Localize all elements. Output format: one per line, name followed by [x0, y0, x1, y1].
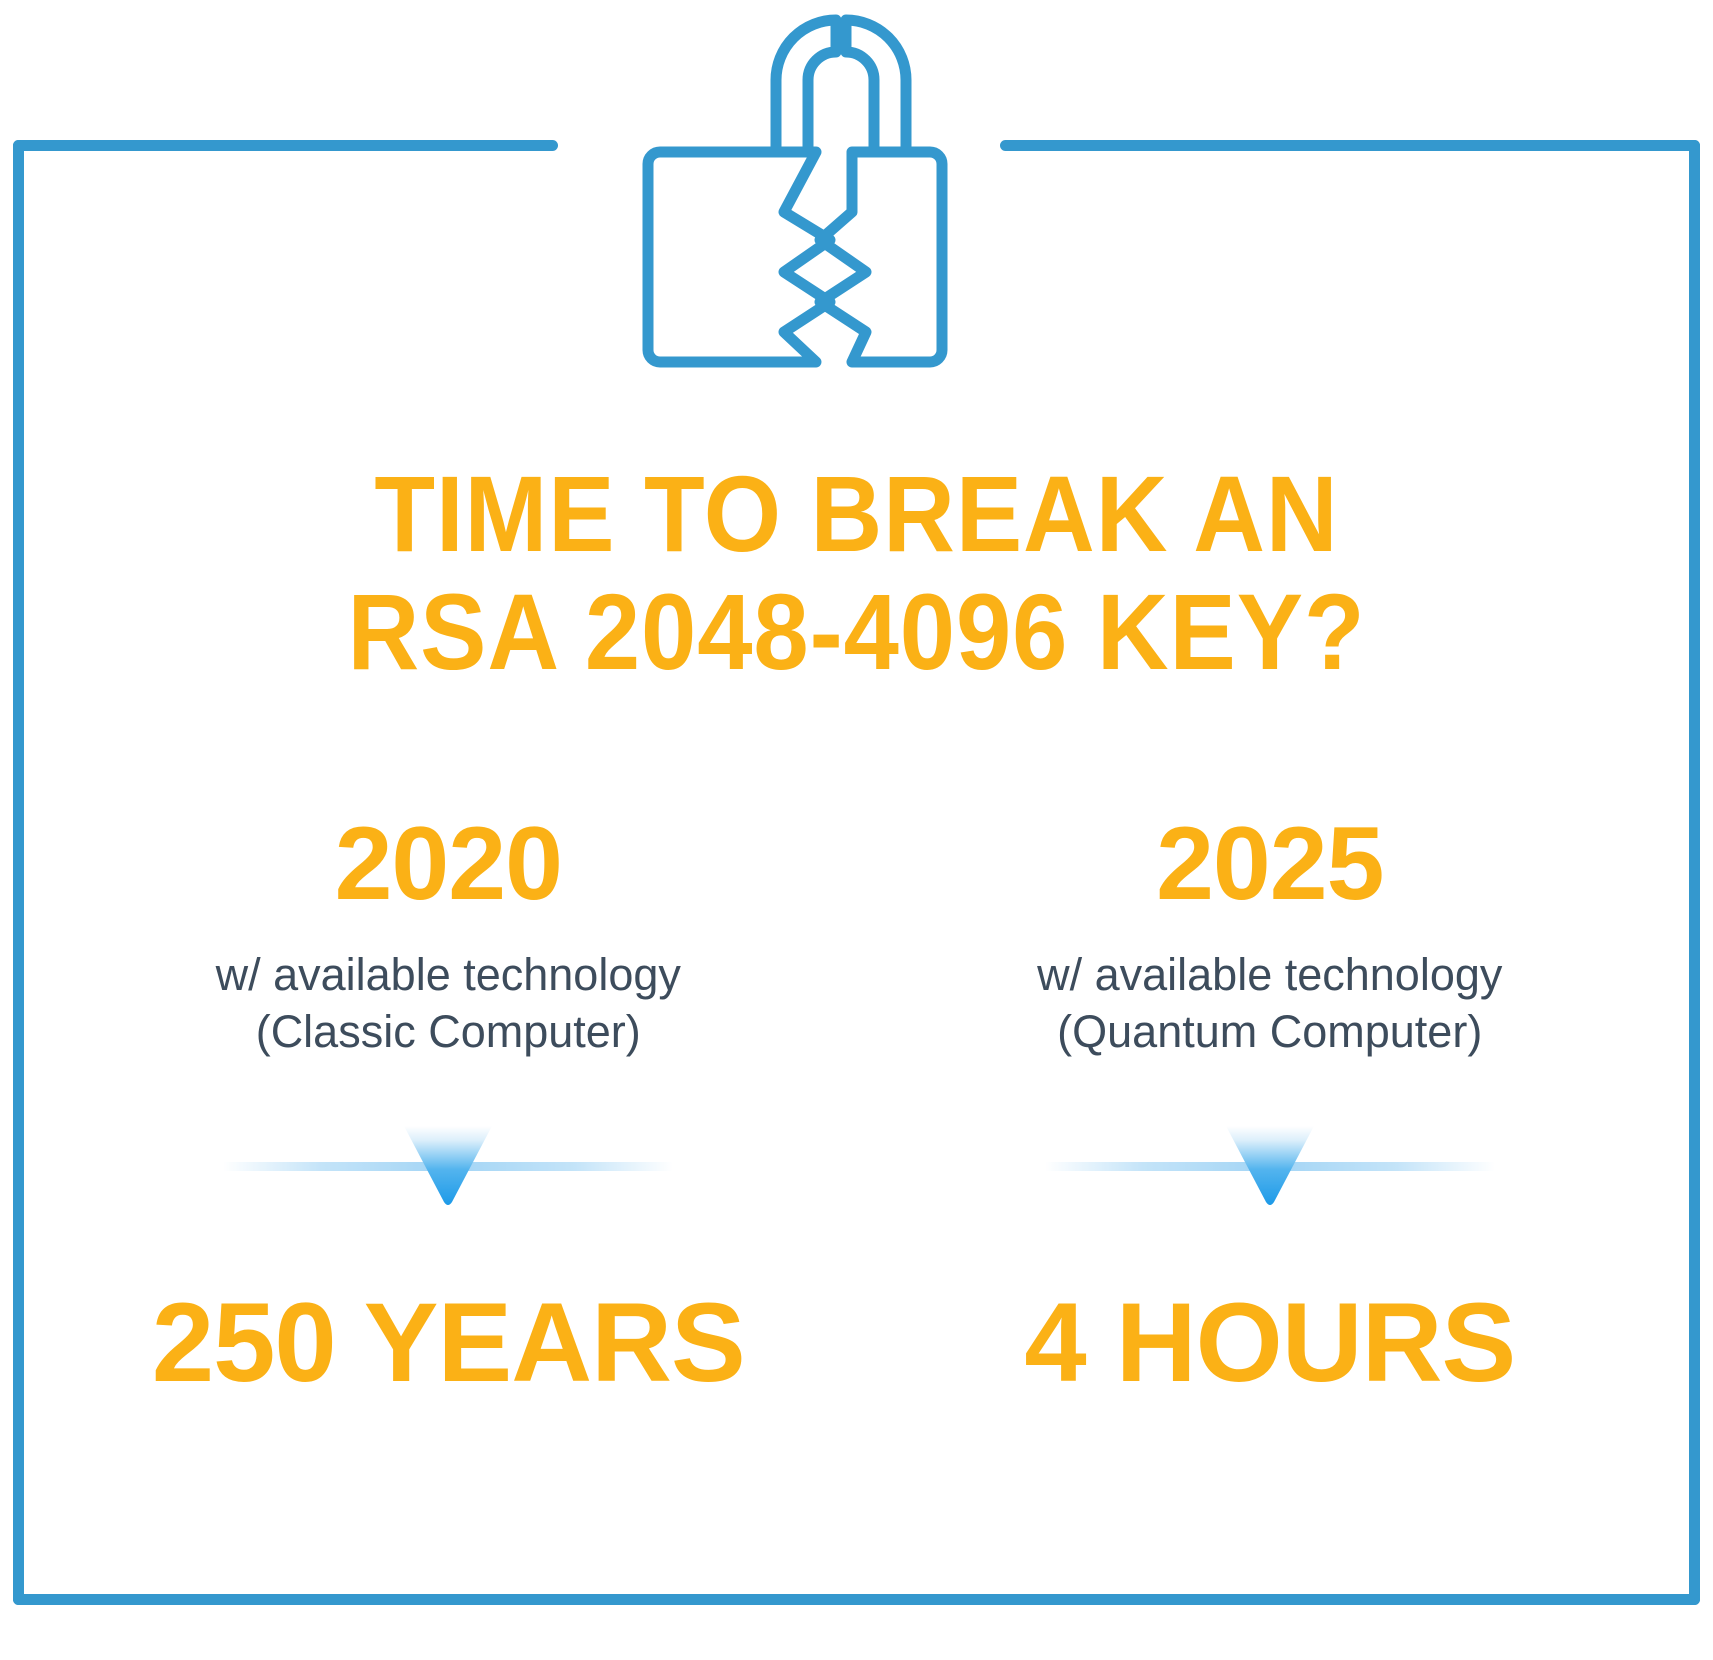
broken-padlock-icon: [634, 0, 954, 375]
frame-top-left-segment: [13, 140, 558, 151]
down-arrow-icon: [1222, 1122, 1318, 1210]
result-250-years: 250 YEARS: [152, 1284, 745, 1402]
result-4-hours: 4 HOURS: [1024, 1284, 1515, 1402]
down-arrow-quantum: [1045, 1122, 1495, 1232]
year-label-2020: 2020: [335, 810, 562, 918]
infographic-root: TIME TO BREAK AN RSA 2048-4096 KEY? 2020…: [0, 0, 1713, 1660]
description-quantum-computer: w/ available technology (Quantum Compute…: [1037, 946, 1502, 1060]
frame-top-right-segment: [1000, 140, 1700, 151]
column-classic-computer: 2020 w/ available technology (Classic Co…: [0, 810, 857, 1402]
frame-bottom-border: [13, 1594, 1700, 1605]
year-label-2025: 2025: [1156, 810, 1383, 918]
comparison-columns: 2020 w/ available technology (Classic Co…: [0, 810, 1713, 1402]
description-classic-computer: w/ available technology (Classic Compute…: [216, 946, 681, 1060]
column-quantum-computer: 2025 w/ available technology (Quantum Co…: [857, 810, 1713, 1402]
page-title: TIME TO BREAK AN RSA 2048-4096 KEY?: [69, 455, 1645, 691]
down-arrow-icon: [400, 1122, 496, 1210]
down-arrow-classic: [223, 1122, 673, 1232]
